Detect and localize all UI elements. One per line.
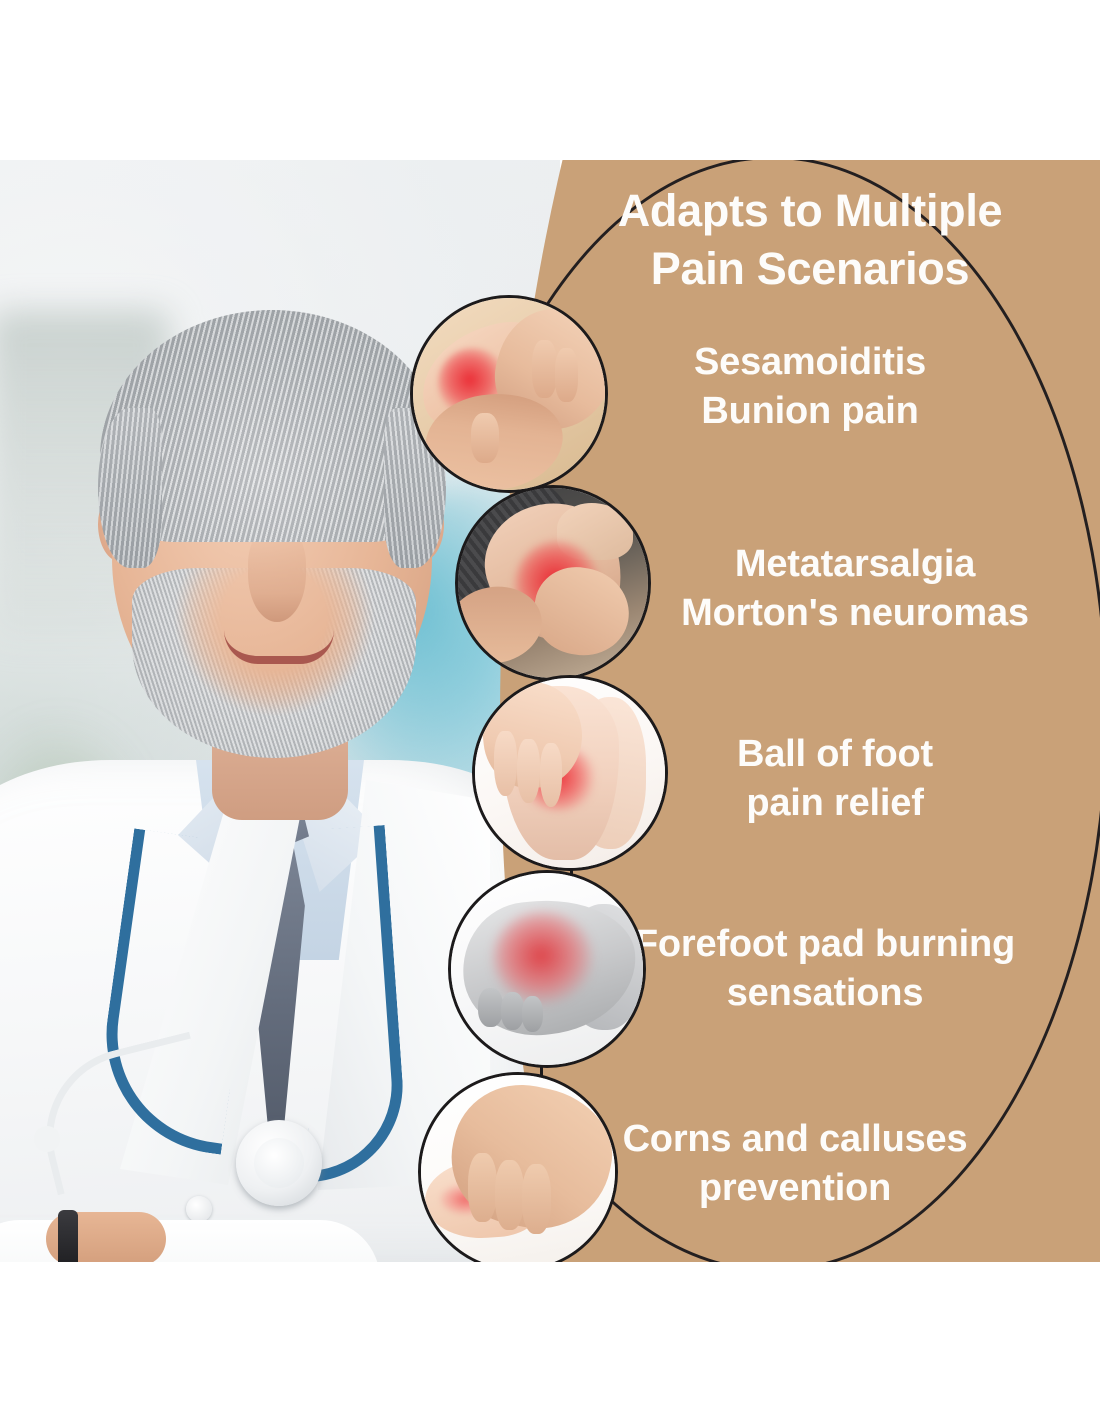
feature-label-5-line-2: prevention: [560, 1164, 1030, 1213]
feature-label-3-line-2: pain relief: [620, 779, 1050, 828]
stethoscope-earpiece: [34, 1126, 60, 1152]
scene5-knuckle-a: [468, 1153, 497, 1223]
scene1-finger-a: [532, 340, 557, 398]
feature-image-4: [448, 870, 646, 1068]
scene4-toe-b: [501, 992, 524, 1030]
feature-label-3-line-1: Ball of foot: [737, 733, 933, 775]
bunion-sesamoid-pain-photo: [413, 298, 605, 490]
smile: [224, 630, 334, 664]
feature-label-4: Forefoot pad burning sensations: [580, 920, 1070, 1019]
stethoscope-chestpiece: [236, 1120, 322, 1206]
scene1-finger-b: [555, 348, 578, 402]
scene4-toe-a: [478, 988, 503, 1026]
feature-image-2: [455, 485, 651, 681]
content-band: Adapts to Multiple Pain Scenarios Sesamo…: [0, 160, 1100, 1262]
headline: Adapts to Multiple Pain Scenarios: [560, 182, 1060, 297]
feature-label-1-line-1: Sesamoiditis: [694, 341, 926, 383]
scene3-finger-a: [494, 731, 517, 796]
scene1-thumb: [471, 413, 500, 463]
headline-line-2: Pain Scenarios: [651, 243, 969, 294]
metatarsalgia-pain-photo: [458, 488, 648, 678]
forefoot-burning-photo: [451, 873, 643, 1065]
ball-of-foot-pain-photo: [475, 678, 665, 868]
scene5-knuckle-c: [522, 1164, 551, 1234]
feature-label-3: Ball of foot pain relief: [620, 730, 1050, 829]
feature-label-5-line-1: Corns and calluses: [623, 1118, 968, 1160]
feature-label-5: Corns and calluses prevention: [560, 1115, 1030, 1214]
feature-label-1: Sesamoiditis Bunion pain: [590, 338, 1030, 437]
corns-calluses-photo: [421, 1075, 615, 1262]
feature-image-3: [472, 675, 668, 871]
scene3-finger-b: [517, 739, 540, 804]
feature-label-4-line-1: Forefoot pad burning: [635, 923, 1015, 965]
feature-label-4-line-2: sensations: [580, 969, 1070, 1018]
product-feature-graphic: Adapts to Multiple Pain Scenarios Sesamo…: [0, 0, 1100, 1422]
headline-line-1: Adapts to Multiple: [618, 185, 1003, 236]
feature-image-1: [410, 295, 608, 493]
feature-label-2-line-1: Metatarsalgia: [735, 543, 975, 585]
feature-label-2-line-2: Morton's neuromas: [620, 589, 1090, 638]
scene4-pain-highlight: [493, 911, 593, 1003]
feature-image-5: [418, 1072, 618, 1262]
wristwatch: [58, 1210, 78, 1262]
hair-side-left: [98, 408, 162, 568]
lab-coat-button: [186, 1196, 212, 1222]
feature-label-1-line-2: Bunion pain: [590, 387, 1030, 436]
scene4-toe-c: [522, 996, 543, 1032]
scene5-knuckle-b: [495, 1160, 524, 1230]
feature-label-2: Metatarsalgia Morton's neuromas: [620, 540, 1090, 639]
scene3-finger-c: [540, 743, 563, 808]
